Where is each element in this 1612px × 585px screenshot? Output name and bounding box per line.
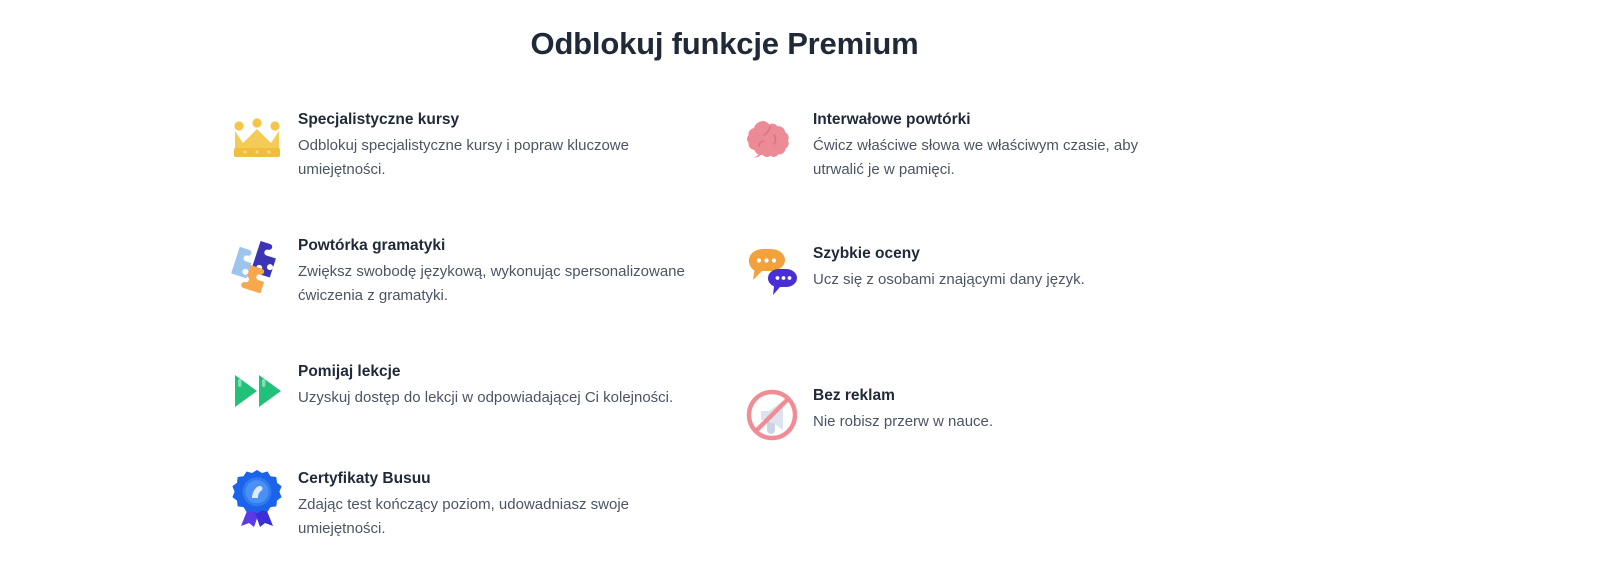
feature-text: Certyfikaty Busuu Zdając test kończący p…	[298, 463, 698, 541]
certificate-rosette-icon	[228, 469, 286, 527]
feature-text: Bez reklam Nie robisz przerw w nauce.	[813, 380, 993, 434]
feature-description: Ucz się z osobami znającymi dany język.	[813, 268, 1085, 292]
feature-description: Ćwicz właściwe słowa we właściwym czasie…	[813, 134, 1173, 182]
feature-item-no-ads: Bez reklam Nie robisz przerw w nauce.	[743, 380, 1213, 444]
feature-text: Powtórka gramatyki Zwiększ swobodę język…	[298, 230, 698, 308]
feature-text: Pomijaj lekcje Uzyskuj dostęp do lekcji …	[298, 356, 673, 410]
feature-item-specialist-courses: Specjalistyczne kursy Odblokuj specjalis…	[228, 104, 718, 182]
brain-icon	[743, 110, 801, 168]
feature-item-spaced-repetition: Interwałowe powtórki Ćwicz właściwe słow…	[743, 104, 1213, 182]
feature-item-quick-reviews: Szybkie oceny Ucz się z osobami znającym…	[743, 238, 1213, 302]
feature-text: Specjalistyczne kursy Odblokuj specjalis…	[298, 104, 698, 182]
feature-title: Certyfikaty Busuu	[298, 469, 698, 489]
page-title: Odblokuj funkcje Premium	[0, 24, 1449, 64]
no-ads-icon	[743, 386, 801, 444]
feature-text: Interwałowe powtórki Ćwicz właściwe słow…	[813, 104, 1173, 182]
feature-title: Specjalistyczne kursy	[298, 110, 698, 130]
features-right-column: Interwałowe powtórki Ćwicz właściwe słow…	[743, 104, 1213, 444]
premium-features-page: Odblokuj funkcje Premium	[0, 0, 1612, 585]
features-left-column: Specjalistyczne kursy Odblokuj specjalis…	[228, 104, 718, 541]
feature-title: Interwałowe powtórki	[813, 110, 1173, 130]
feature-item-grammar-review: Powtórka gramatyki Zwiększ swobodę język…	[228, 230, 718, 308]
feature-description: Nie robisz przerw w nauce.	[813, 410, 993, 434]
feature-description: Zdając test kończący poziom, udowadniasz…	[298, 493, 698, 541]
feature-item-skip-lessons: Pomijaj lekcje Uzyskuj dostęp do lekcji …	[228, 356, 718, 420]
feature-title: Powtórka gramatyki	[298, 236, 698, 256]
feature-item-busuu-certificates: Certyfikaty Busuu Zdając test kończący p…	[228, 463, 718, 541]
puzzle-pieces-icon	[228, 236, 286, 294]
crown-icon	[228, 110, 286, 168]
feature-title: Pomijaj lekcje	[298, 362, 673, 382]
feature-title: Bez reklam	[813, 386, 993, 406]
fast-forward-icon	[228, 362, 286, 420]
feature-title: Szybkie oceny	[813, 244, 1085, 264]
feature-description: Zwiększ swobodę językową, wykonując sper…	[298, 260, 698, 308]
feature-description: Odblokuj specjalistyczne kursy i popraw …	[298, 134, 698, 182]
feature-description: Uzyskuj dostęp do lekcji w odpowiadające…	[298, 386, 673, 410]
speech-bubbles-icon	[743, 244, 801, 302]
feature-text: Szybkie oceny Ucz się z osobami znającym…	[813, 238, 1085, 292]
